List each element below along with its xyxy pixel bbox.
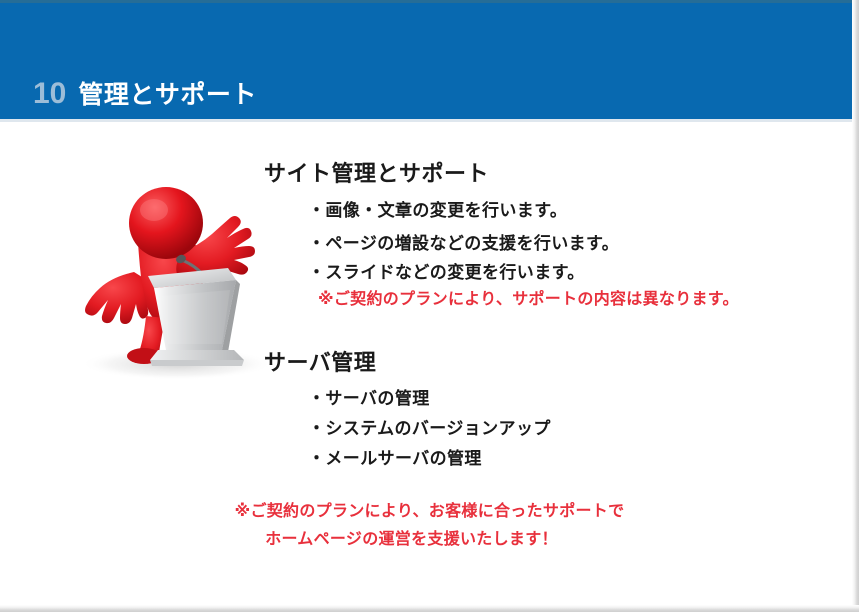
footer-note: ※ご契約のプランにより、お客様に合ったサポートで ホームページの運営を支援いたし…	[0, 498, 859, 554]
page-title: 管理とサポート	[78, 83, 257, 108]
slide-frame-right-edge	[852, 0, 859, 612]
list-item: ・システムのバージョンアップ	[308, 414, 551, 439]
list-item: ・スライドなどの変更を行います。	[308, 258, 585, 283]
slide-frame-bottom-edge	[0, 605, 859, 612]
footer-note-line-2: ホームページの運営を支援いたします！	[0, 526, 859, 554]
slide-number: 10	[33, 79, 66, 109]
header-top-divider	[0, 0, 853, 3]
list-item: ・メールサーバの管理	[308, 444, 482, 469]
list-item: ・ページの増設などの支援を行います。	[308, 229, 619, 254]
slide: 10 管理とサポート	[0, 0, 859, 612]
footer-note-line-1: ※ご契約のプランにより、お客様に合ったサポートで	[0, 498, 859, 526]
section-note-site-management: ※ご契約のプランにより、サポートの内容は異なります。	[318, 285, 739, 309]
header-bottom-divider	[0, 119, 853, 122]
list-item: ・画像・文章の変更を行います。	[308, 196, 567, 221]
list-item: ・サーバの管理	[308, 384, 430, 409]
header-title-row: 10 管理とサポート	[33, 79, 257, 109]
section-heading-server-management: サーバ管理	[264, 345, 376, 377]
section-heading-site-management: サイト管理とサポート	[264, 156, 489, 188]
